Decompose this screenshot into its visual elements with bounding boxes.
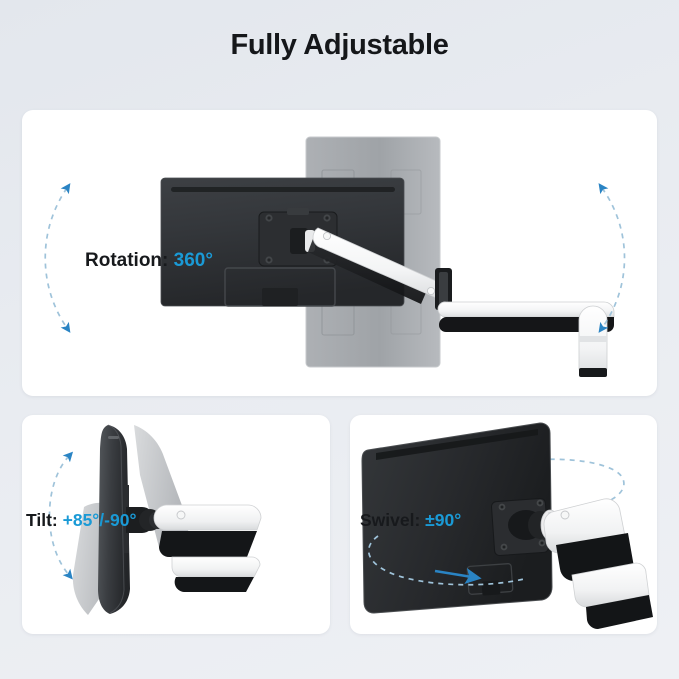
rotation-label-value: 360° — [174, 250, 213, 271]
swivel-label-value: ±90° — [425, 510, 461, 530]
tilt-spec-label: Tilt: +85°/-90° — [26, 512, 136, 530]
rotation-spec-label: Rotation: 360° — [85, 251, 213, 270]
rotation-label-prefix: Rotation: — [85, 250, 174, 271]
swivel-spec-label: Swivel: ±90° — [360, 512, 461, 530]
swivel-label-prefix: Swivel: — [360, 510, 425, 530]
page-title: Fully Adjustable — [0, 26, 679, 64]
tilt-label-prefix: Tilt: — [26, 510, 63, 530]
tilt-label-value: +85°/-90° — [63, 510, 137, 530]
product-feature-graphic: Fully Adjustable — [0, 0, 679, 679]
